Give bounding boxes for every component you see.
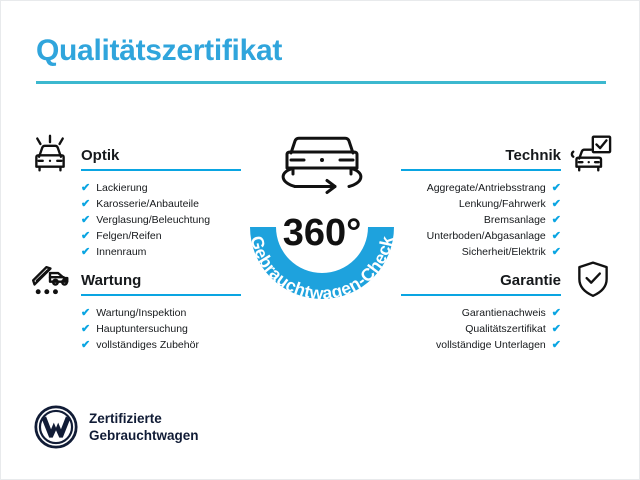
list-item: Aggregate/Antriebsstrang✔	[401, 180, 561, 196]
section-wartung: Wartung ✔Wartung/Inspektion ✔Hauptunters…	[81, 266, 241, 353]
list-item: Garantienachweis✔	[401, 305, 561, 321]
check-icon: ✔	[81, 215, 90, 226]
badge-center-label: 360°	[283, 212, 362, 254]
360-check-badge: Gebrauchtwagen-Check 360°	[229, 119, 415, 315]
check-icon: ✔	[81, 308, 90, 319]
section-optik-title: Optik	[81, 147, 119, 164]
list-item-label: Sicherheit/Elektrik	[462, 244, 546, 260]
check-icon: ✔	[81, 340, 90, 351]
section-wartung-title: Wartung	[81, 272, 141, 289]
section-wartung-divider	[81, 294, 241, 296]
section-technik-title: Technik	[505, 147, 561, 164]
list-item: Qualitätszertifikat✔	[401, 321, 561, 337]
list-item-label: Verglasung/Beleuchtung	[96, 212, 210, 228]
check-icon: ✔	[81, 231, 90, 242]
list-item: ✔Felgen/Reifen	[81, 228, 241, 244]
list-item: Unterboden/Abgasanlage✔	[401, 228, 561, 244]
section-garantie-header: Garantie	[401, 266, 561, 296]
list-item-label: Garantienachweis	[462, 305, 546, 321]
list-item: Bremsanlage✔	[401, 212, 561, 228]
list-item: Lenkung/Fahrwerk✔	[401, 196, 561, 212]
list-item-label: Aggregate/Antriebsstrang	[427, 180, 546, 196]
list-item: Sicherheit/Elektrik✔	[401, 244, 561, 260]
check-icon: ✔	[81, 199, 90, 210]
page-title: Qualitätszertifikat	[36, 34, 282, 68]
list-item-label: Wartung/Inspektion	[96, 305, 186, 321]
section-garantie-divider	[401, 294, 561, 296]
list-item-label: Unterboden/Abgasanlage	[427, 228, 546, 244]
check-icon: ✔	[552, 199, 561, 210]
section-wartung-header: Wartung	[81, 266, 241, 296]
wrench-car-icon	[28, 259, 72, 299]
section-garantie-title: Garantie	[500, 272, 561, 289]
list-item-label: Lackierung	[96, 180, 147, 196]
title-divider	[36, 81, 606, 84]
section-wartung-list: ✔Wartung/Inspektion ✔Hauptuntersuchung ✔…	[81, 305, 241, 353]
check-icon: ✔	[552, 183, 561, 194]
section-garantie: Garantie Garantienachweis✔ Qualitätszert…	[401, 266, 561, 353]
list-item: ✔Innenraum	[81, 244, 241, 260]
vw-logo	[34, 405, 78, 449]
vw-footer: Zertifizierte Gebrauchtwagen	[34, 405, 199, 449]
list-item-label: Qualitätszertifikat	[465, 321, 546, 337]
list-item: ✔Wartung/Inspektion	[81, 305, 241, 321]
list-item-label: Lenkung/Fahrwerk	[459, 196, 546, 212]
list-item: vollständige Unterlagen✔	[401, 337, 561, 353]
qualitaetszertifikat-page: Qualitätszertifikat Optik ✔Lackierung ✔K…	[0, 0, 640, 480]
list-item-label: Felgen/Reifen	[96, 228, 161, 244]
list-item-label: Bremsanlage	[484, 212, 546, 228]
vw-footer-line1: Zertifizierte	[89, 410, 199, 427]
section-garantie-list: Garantienachweis✔ Qualitätszertifikat✔ v…	[401, 305, 561, 353]
section-technik-divider	[401, 169, 561, 171]
section-optik-header: Optik	[81, 141, 241, 171]
list-item: ✔Karosserie/Anbauteile	[81, 196, 241, 212]
check-icon: ✔	[552, 215, 561, 226]
check-icon: ✔	[81, 247, 90, 258]
shield-check-icon	[573, 259, 617, 299]
section-technik-header: Technik	[401, 141, 561, 171]
list-item: ✔Hauptuntersuchung	[81, 321, 241, 337]
list-item: ✔vollständiges Zubehör	[81, 337, 241, 353]
check-icon: ✔	[81, 183, 90, 194]
list-item: ✔Lackierung	[81, 180, 241, 196]
check-icon: ✔	[552, 340, 561, 351]
car-shine-icon	[28, 134, 72, 174]
list-item: ✔Verglasung/Beleuchtung	[81, 212, 241, 228]
check-icon: ✔	[552, 247, 561, 258]
section-technik-list: Aggregate/Antriebsstrang✔ Lenkung/Fahrwe…	[401, 180, 561, 260]
car-checkbox-icon	[569, 134, 613, 174]
car-rotate-icon	[283, 138, 361, 192]
list-item-label: Karosserie/Anbauteile	[96, 196, 199, 212]
vw-footer-text: Zertifizierte Gebrauchtwagen	[89, 410, 199, 444]
section-technik: Technik Aggregate/Antriebsstrang✔ Lenkun…	[401, 141, 561, 260]
list-item-label: Hauptuntersuchung	[96, 321, 188, 337]
section-optik-list: ✔Lackierung ✔Karosserie/Anbauteile ✔Verg…	[81, 180, 241, 260]
check-icon: ✔	[81, 324, 90, 335]
list-item-label: vollständiges Zubehör	[96, 337, 199, 353]
check-icon: ✔	[552, 324, 561, 335]
section-optik: Optik ✔Lackierung ✔Karosserie/Anbauteile…	[81, 141, 241, 260]
vw-footer-line2: Gebrauchtwagen	[89, 427, 199, 444]
section-optik-divider	[81, 169, 241, 171]
check-icon: ✔	[552, 231, 561, 242]
list-item-label: vollständige Unterlagen	[436, 337, 546, 353]
check-icon: ✔	[552, 308, 561, 319]
list-item-label: Innenraum	[96, 244, 146, 260]
